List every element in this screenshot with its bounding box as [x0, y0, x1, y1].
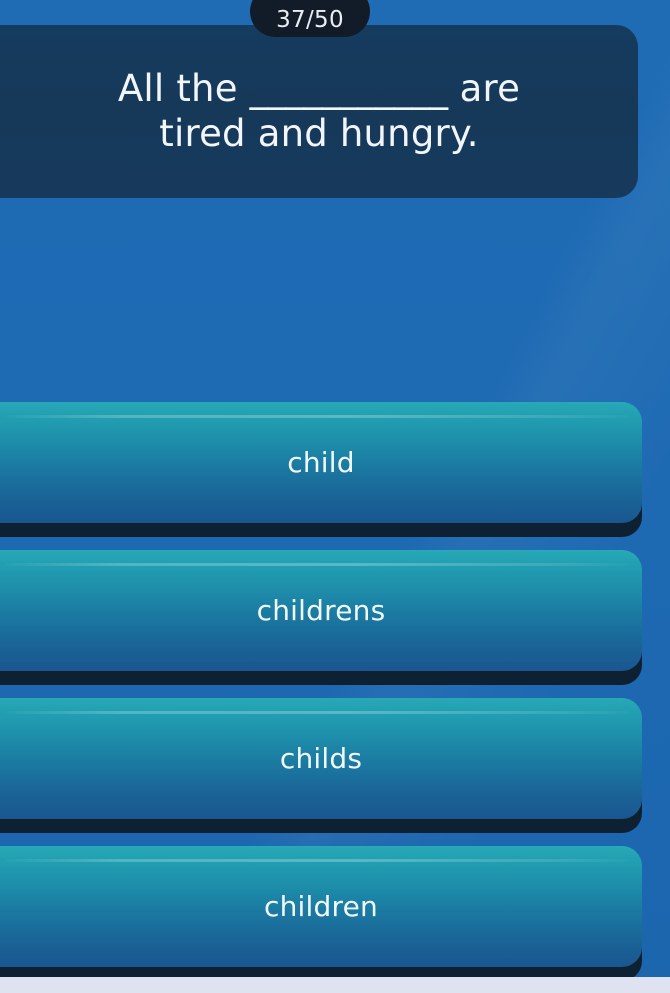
question-blank: ___________ — [250, 67, 448, 110]
question-card: All the ___________ are tired and hungry… — [0, 25, 638, 198]
question-line-1: All the ___________ are — [118, 68, 520, 110]
answer-option-2[interactable]: childrens — [0, 550, 642, 671]
answer-option-1-label: child — [287, 446, 354, 479]
bottom-strip — [0, 977, 670, 993]
progress-badge-label: 37/50 — [276, 9, 344, 32]
question-line-2: tired and hungry. — [159, 113, 478, 155]
answer-option-4-label: children — [264, 890, 378, 923]
answer-option-4-wrapper: children — [0, 846, 642, 967]
question-text-after-blank: are — [460, 67, 520, 110]
answer-option-3[interactable]: childs — [0, 698, 642, 819]
answer-option-1-wrapper: child — [0, 402, 642, 523]
question-text-before-blank: All the — [118, 67, 238, 110]
answer-option-3-wrapper: childs — [0, 698, 642, 819]
progress-badge: 37/50 — [250, 0, 370, 37]
answer-option-2-label: childrens — [257, 594, 386, 627]
answer-option-1[interactable]: child — [0, 402, 642, 523]
answer-option-3-label: childs — [280, 742, 362, 775]
answer-option-2-wrapper: childrens — [0, 550, 642, 671]
answer-options-list: child childrens childs children — [0, 402, 670, 993]
answer-option-4[interactable]: children — [0, 846, 642, 967]
quiz-screen: 37/50 All the ___________ are tired and … — [0, 0, 670, 993]
